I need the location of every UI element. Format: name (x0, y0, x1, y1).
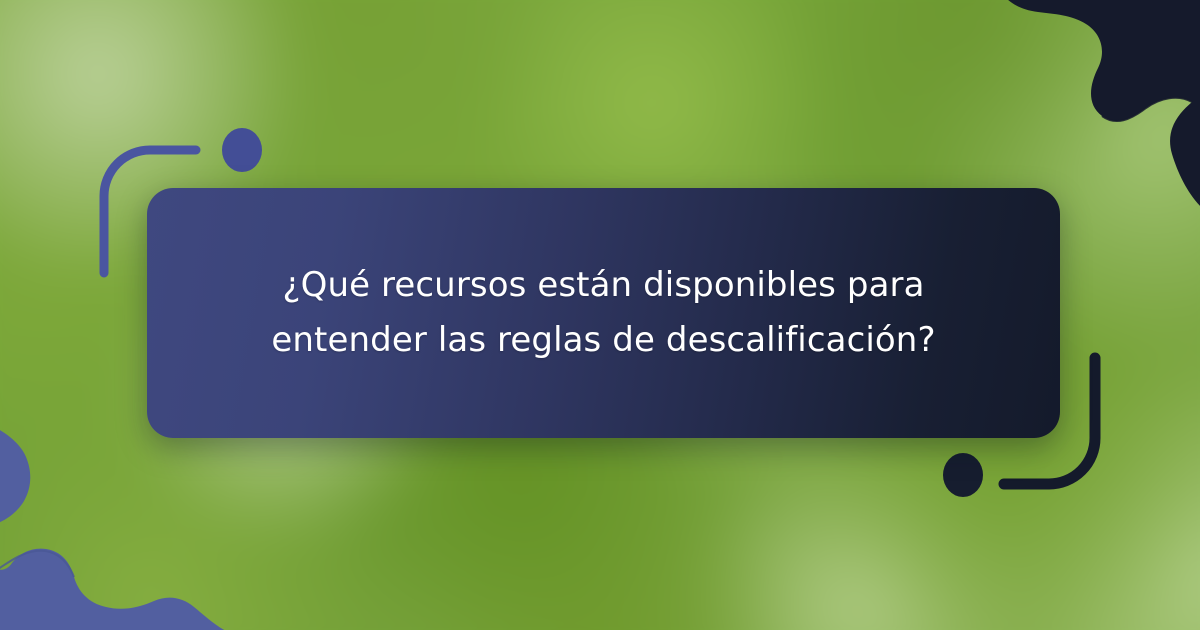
question-card: ¿Qué recursos están disponibles para ent… (147, 188, 1060, 438)
question-text: ¿Qué recursos están disponibles para ent… (264, 258, 944, 368)
social-card-canvas: ¿Qué recursos están disponibles para ent… (0, 0, 1200, 630)
